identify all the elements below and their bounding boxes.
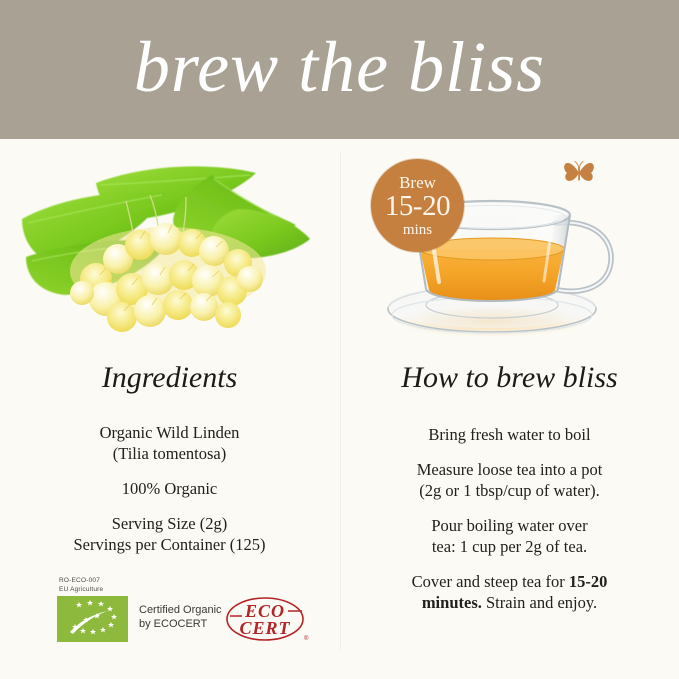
text-line: EU Agriculture xyxy=(59,585,103,594)
butterfly-icon xyxy=(562,159,596,187)
linden-flowers-image xyxy=(0,139,339,354)
badge-line-3: mins xyxy=(403,222,432,238)
text-line: 100% Organic xyxy=(0,478,339,499)
eu-leaf-stars-icon xyxy=(57,596,128,642)
text-line: Servings per Container (125) xyxy=(0,534,339,555)
eu-certification-code: RO-ECO-007 EU Agriculture xyxy=(59,576,103,594)
ingredients-text: Organic Wild Linden (Tilia tomentosa) 10… xyxy=(0,422,339,555)
brewing-column: Brew 15-20 mins How to brew bliss xyxy=(340,139,679,679)
certification-block: RO-ECO-007 EU Agriculture xyxy=(57,576,309,642)
text-run: Strain and enjoy. xyxy=(482,593,597,612)
text-run: Cover and steep tea for xyxy=(412,572,569,591)
ingredient-paragraph: Organic Wild Linden (Tilia tomentosa) xyxy=(0,422,339,464)
text-line: RO-ECO-007 xyxy=(59,576,103,585)
text-line: Organic Wild Linden xyxy=(0,422,339,443)
text-line: by ECOCERT xyxy=(139,617,222,631)
brew-step: Cover and steep tea for 15-20 minutes. S… xyxy=(340,571,679,613)
ingredients-column: Ingredients Organic Wild Linden (Tilia t… xyxy=(0,139,339,679)
content-area: Ingredients Organic Wild Linden (Tilia t… xyxy=(0,139,679,679)
brew-step: Measure loose tea into a pot (2g or 1 tb… xyxy=(340,459,679,501)
svg-text:CERT: CERT xyxy=(239,618,290,638)
product-info-card: brew the bliss xyxy=(0,0,679,679)
svg-text:®: ® xyxy=(304,635,309,642)
ecocert-oval-icon: ECO CERT ® xyxy=(224,595,310,643)
brew-time-badge: Brew 15-20 mins xyxy=(371,159,464,252)
text-run-bold: 15-20 xyxy=(569,572,608,591)
header-banner: brew the bliss xyxy=(0,0,679,139)
brew-step: Pour boiling water over tea: 1 cup per 2… xyxy=(340,515,679,557)
brewing-heading: How to brew bliss xyxy=(340,361,679,395)
ingredient-paragraph: 100% Organic xyxy=(0,478,339,499)
brew-step: Bring fresh water to boil xyxy=(340,424,679,445)
badge-line-2: 15-20 xyxy=(385,192,450,221)
page-title: brew the bliss xyxy=(134,31,545,103)
text-line: Bring fresh water to boil xyxy=(340,424,679,445)
ecocert-logo-icon: ECO CERT ® xyxy=(224,595,310,643)
text-line: Pour boiling water over xyxy=(340,515,679,536)
badge-line-1: Brew xyxy=(399,174,436,191)
text-line: Measure loose tea into a pot xyxy=(340,459,679,480)
linden-flowers-illustration xyxy=(0,139,339,354)
text-line: Cover and steep tea for 15-20 xyxy=(340,571,679,592)
brewing-instructions-text: Bring fresh water to boil Measure loose … xyxy=(340,424,679,613)
text-line: (Tilia tomentosa) xyxy=(0,443,339,464)
eu-organic-leaf-icon xyxy=(57,596,128,642)
text-run-bold: minutes. xyxy=(422,593,482,612)
ingredient-paragraph: Serving Size (2g) Servings per Container… xyxy=(0,513,339,555)
text-line: minutes. Strain and enjoy. xyxy=(340,592,679,613)
ingredients-heading: Ingredients xyxy=(0,361,339,395)
butterfly-silhouette-icon xyxy=(562,159,596,187)
text-line: tea: 1 cup per 2g of tea. xyxy=(340,536,679,557)
text-line: Certified Organic xyxy=(139,603,222,617)
certification-label: Certified Organic by ECOCERT xyxy=(139,603,222,631)
text-line: (2g or 1 tbsp/cup of water). xyxy=(340,480,679,501)
text-line: Serving Size (2g) xyxy=(0,513,339,534)
